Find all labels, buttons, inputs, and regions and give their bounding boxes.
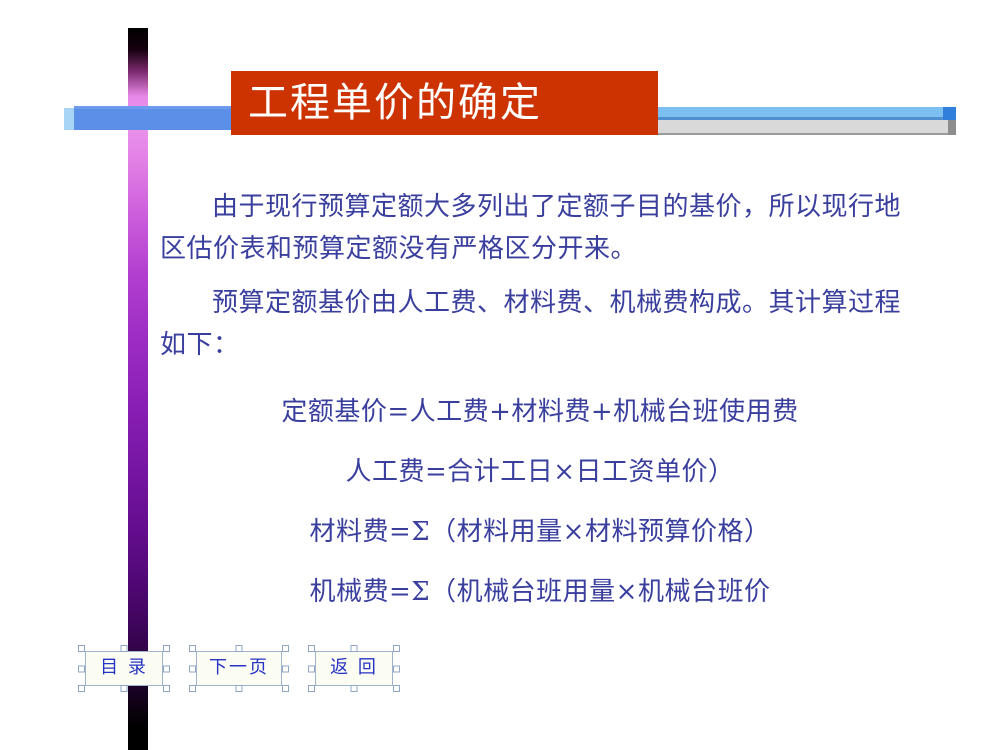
left-bar-end-cap	[64, 108, 74, 130]
formula-material-cost: 材料费=Σ（材料用量×材料预算价格）	[160, 502, 920, 562]
selection-handle-middle-left[interactable]	[189, 665, 196, 672]
page-title: 工程单价的确定	[248, 83, 542, 123]
selection-handle-top-right[interactable]	[163, 645, 170, 652]
formula-labor-cost: 人工费=合计工日×日工资单价）	[160, 442, 920, 502]
selection-handle-bottom-right[interactable]	[393, 685, 400, 692]
navigation-buttons: 目 录 下一页 返 回	[78, 645, 400, 692]
paragraph-2: 预算定额基价由人工费、材料费、机械费构成。其计算过程如下：	[160, 282, 920, 366]
selection-handle-bottom-center[interactable]	[236, 685, 243, 692]
nav-button-contents-wrapper[interactable]: 目 录	[78, 645, 170, 692]
selection-handle-top-right[interactable]	[393, 645, 400, 652]
body-content: 由于现行预算定额大多列出了定额子目的基价，所以现行地区估价表和预算定额没有严格区…	[160, 186, 920, 622]
nav-button-next-page[interactable]: 下一页	[196, 651, 282, 686]
selection-handle-bottom-center[interactable]	[351, 685, 358, 692]
right-bar-grey-strip	[658, 120, 948, 135]
selection-handle-bottom-left[interactable]	[78, 685, 85, 692]
selection-handle-middle-right[interactable]	[282, 665, 289, 672]
selection-handle-bottom-right[interactable]	[163, 685, 170, 692]
nav-button-contents[interactable]: 目 录	[85, 651, 163, 686]
selection-handle-middle-left[interactable]	[78, 665, 85, 672]
selection-handle-bottom-left[interactable]	[308, 685, 315, 692]
selection-handle-top-left[interactable]	[308, 645, 315, 652]
slide-canvas: 工程单价的确定 由于现行预算定额大多列出了定额子目的基价，所以现行地区估价表和预…	[0, 0, 1000, 750]
formula-list: 定额基价=人工费+材料费+机械台班使用费 人工费=合计工日×日工资单价） 材料费…	[160, 382, 920, 622]
paragraph-1: 由于现行预算定额大多列出了定额子目的基价，所以现行地区估价表和预算定额没有严格区…	[160, 186, 920, 270]
selection-handle-bottom-center[interactable]	[121, 685, 128, 692]
selection-handle-top-center[interactable]	[236, 645, 243, 652]
vertical-gradient-bar	[128, 28, 148, 750]
selection-handle-bottom-left[interactable]	[189, 685, 196, 692]
right-bar-grey-shadow	[948, 120, 956, 135]
selection-handle-top-left[interactable]	[78, 645, 85, 652]
nav-button-next-page-wrapper[interactable]: 下一页	[189, 645, 289, 692]
selection-handle-top-right[interactable]	[282, 645, 289, 652]
selection-handle-top-center[interactable]	[351, 645, 358, 652]
selection-handle-middle-right[interactable]	[163, 665, 170, 672]
selection-handle-top-left[interactable]	[189, 645, 196, 652]
selection-handle-top-center[interactable]	[121, 645, 128, 652]
nav-button-back[interactable]: 返 回	[315, 651, 393, 686]
title-banner: 工程单价的确定	[231, 71, 658, 135]
right-bar-end-cap	[943, 107, 956, 120]
formula-machinery-cost: 机械费=Σ（机械台班用量×机械台班价	[160, 562, 920, 622]
nav-button-back-wrapper[interactable]: 返 回	[308, 645, 400, 692]
formula-base-price: 定额基价=人工费+材料费+机械台班使用费	[160, 382, 920, 442]
selection-handle-middle-right[interactable]	[393, 665, 400, 672]
selection-handle-bottom-right[interactable]	[282, 685, 289, 692]
right-bar-blue-strip	[658, 107, 956, 117]
selection-handle-middle-left[interactable]	[308, 665, 315, 672]
